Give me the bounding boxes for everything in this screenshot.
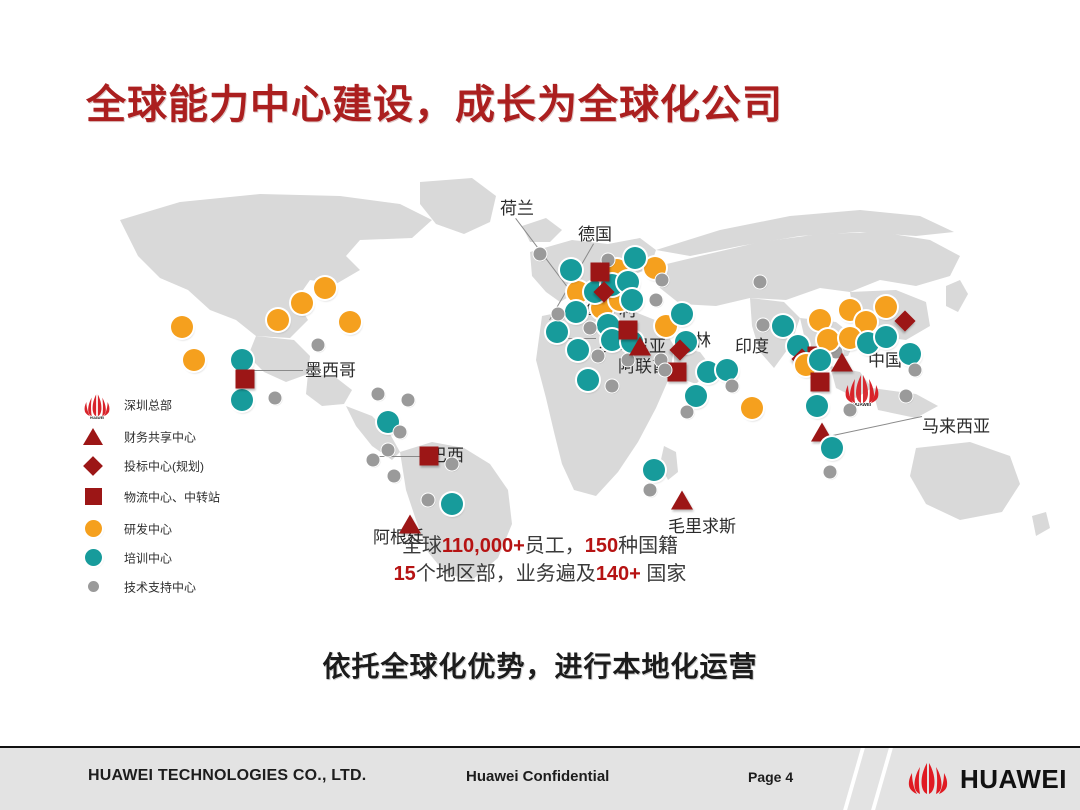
- map-marker-tech-support: [644, 484, 657, 497]
- map-marker-rd-center: [171, 316, 193, 338]
- map-marker-rd-center: [817, 329, 839, 351]
- stats-text: 种国籍: [618, 535, 678, 557]
- map-label-india: 印度: [735, 332, 769, 357]
- map-marker-training-center: [560, 259, 582, 281]
- stats-text: 员工，: [525, 535, 585, 557]
- legend-label-bidding-center: 投标中心(规划): [124, 457, 204, 474]
- stats-countries-count: 140+: [596, 563, 641, 585]
- map-marker-tech-support: [681, 406, 694, 419]
- map-marker-tech-support: [446, 458, 459, 471]
- map-label-mexico: 墨西哥: [305, 356, 356, 381]
- map-marker-tech-support: [659, 364, 672, 377]
- slide-footer: HUAWEI TECHNOLOGIES CO., LTD. Huawei Con…: [0, 746, 1080, 810]
- map-marker-tech-support: [909, 364, 922, 377]
- map-marker-tech-support: [367, 454, 380, 467]
- map-marker-finance-shared-center: [399, 515, 421, 534]
- leader-line-mexico: [249, 370, 303, 371]
- map-marker-tech-support: [650, 294, 663, 307]
- map-marker-training-center: [899, 343, 921, 365]
- map-marker-tech-support: [388, 470, 401, 483]
- map-marker-rd-center: [339, 311, 361, 333]
- svg-text:HUAWEI: HUAWEI: [90, 416, 104, 420]
- huawei-flower-icon: [905, 760, 951, 798]
- map-marker-tech-support: [422, 494, 435, 507]
- legend-item-finance-shared-center: 财务共享中心: [82, 422, 272, 451]
- map-marker-tech-support: [726, 380, 739, 393]
- map-marker-rd-center: [291, 292, 313, 314]
- map-label-germany: 德国: [578, 220, 612, 245]
- statistics-line-2: 15个地区部，业务遍及140+ 国家: [0, 560, 1080, 588]
- map-marker-training-center: [772, 315, 794, 337]
- map-marker-tech-support: [824, 466, 837, 479]
- map-marker-logistics-center: [420, 447, 439, 466]
- huawei-flower-icon: HUAWEI: [842, 372, 882, 406]
- map-marker-rd-center: [875, 296, 897, 318]
- map-marker-training-center: [821, 437, 843, 459]
- footer-divider-slash: [871, 748, 893, 810]
- map-marker-tech-support: [534, 248, 547, 261]
- stats-nationalities-count: 150: [585, 535, 618, 557]
- map-marker-shenzhen-hq: HUAWEI: [842, 372, 882, 404]
- footer-company-name: HUAWEI TECHNOLOGIES CO., LTD.: [88, 767, 366, 785]
- map-marker-tech-support: [372, 388, 385, 401]
- footer-huawei-logo: HUAWEI: [905, 760, 1067, 798]
- map-marker-tech-support: [402, 394, 415, 407]
- map-marker-training-center: [806, 395, 828, 417]
- map-marker-rd-center: [741, 397, 763, 419]
- triangle-icon: [82, 424, 112, 450]
- map-marker-rd-center: [183, 349, 205, 371]
- legend-label-hq: 深圳总部: [124, 397, 172, 414]
- map-marker-tech-support: [584, 322, 597, 335]
- map-marker-tech-support: [552, 308, 565, 321]
- statistics-line-1: 全球110,000+员工，150种国籍: [0, 532, 1080, 560]
- map-marker-tech-support: [382, 444, 395, 457]
- map-marker-training-center: [685, 385, 707, 407]
- footer-confidential-notice: Huawei Confidential: [466, 768, 609, 785]
- map-marker-tech-support: [606, 380, 619, 393]
- map-marker-training-center: [567, 339, 589, 361]
- map-marker-finance-shared-center: [671, 491, 693, 510]
- stats-employees-count: 110,000+: [442, 535, 525, 557]
- map-marker-logistics-center: [236, 370, 255, 389]
- stats-text: 全球: [402, 535, 442, 557]
- map-marker-finance-shared-center: [629, 337, 651, 356]
- map-marker-finance-shared-center: [831, 353, 853, 372]
- legend-label-finance-shared-center: 财务共享中心: [124, 428, 196, 445]
- map-marker-training-center: [671, 303, 693, 325]
- map-marker-training-center: [577, 369, 599, 391]
- page-title: 全球能力中心建设，成长为全球化公司: [86, 72, 783, 130]
- map-marker-tech-support: [844, 404, 857, 417]
- map-marker-logistics-center: [591, 263, 610, 282]
- legend-item-hq: HUAWEI 深圳总部: [82, 388, 272, 422]
- legend-item-logistics-center: 物流中心、中转站: [82, 480, 272, 514]
- map-marker-tech-support: [900, 390, 913, 403]
- footer-divider-slash: [843, 748, 865, 810]
- map-marker-tech-support: [754, 276, 767, 289]
- map-marker-tech-support: [394, 426, 407, 439]
- map-marker-training-center: [441, 493, 463, 515]
- map-marker-training-center: [624, 247, 646, 269]
- svg-text:HUAWEI: HUAWEI: [853, 402, 871, 406]
- map-label-netherlands: 荷兰: [500, 194, 534, 219]
- map-marker-training-center: [546, 321, 568, 343]
- global-statistics: 全球110,000+员工，150种国籍 15个地区部，业务遍及140+ 国家: [0, 532, 1080, 588]
- footer-logo-text: HUAWEI: [960, 764, 1067, 795]
- footer-page-number: Page 4: [748, 769, 793, 785]
- stats-text: 国家: [641, 563, 687, 585]
- slide-tagline: 依托全球化优势，进行本地化运营: [0, 645, 1080, 685]
- legend-label-logistics-center: 物流中心、中转站: [124, 489, 220, 506]
- map-marker-training-center: [809, 349, 831, 371]
- map-marker-training-center: [643, 459, 665, 481]
- stats-regions-count: 15: [394, 563, 416, 585]
- diamond-icon: [82, 453, 112, 479]
- map-label-malaysia: 马来西亚: [922, 412, 990, 437]
- map-marker-tech-support: [592, 350, 605, 363]
- stats-text: 个地区部，业务遍及: [416, 563, 596, 585]
- map-marker-rd-center: [809, 309, 831, 331]
- map-marker-rd-center: [314, 277, 336, 299]
- map-marker-tech-support: [757, 319, 770, 332]
- map-marker-tech-support: [656, 274, 669, 287]
- map-marker-training-center: [875, 326, 897, 348]
- map-marker-training-center: [716, 359, 738, 381]
- map-marker-training-center: [621, 289, 643, 311]
- map-marker-rd-center: [267, 309, 289, 331]
- square-icon: [82, 484, 112, 510]
- slide-root: 全球能力中心建设，成长为全球化公司: [0, 0, 1080, 810]
- map-marker-rd-center: [855, 311, 877, 333]
- map-marker-tech-support: [312, 339, 325, 352]
- map-marker-training-center: [565, 301, 587, 323]
- map-marker-logistics-center: [811, 373, 830, 392]
- map-marker-training-center: [231, 349, 253, 371]
- huawei-logo-icon: HUAWEI: [82, 392, 112, 418]
- legend-item-bidding-center: 投标中心(规划): [82, 451, 272, 480]
